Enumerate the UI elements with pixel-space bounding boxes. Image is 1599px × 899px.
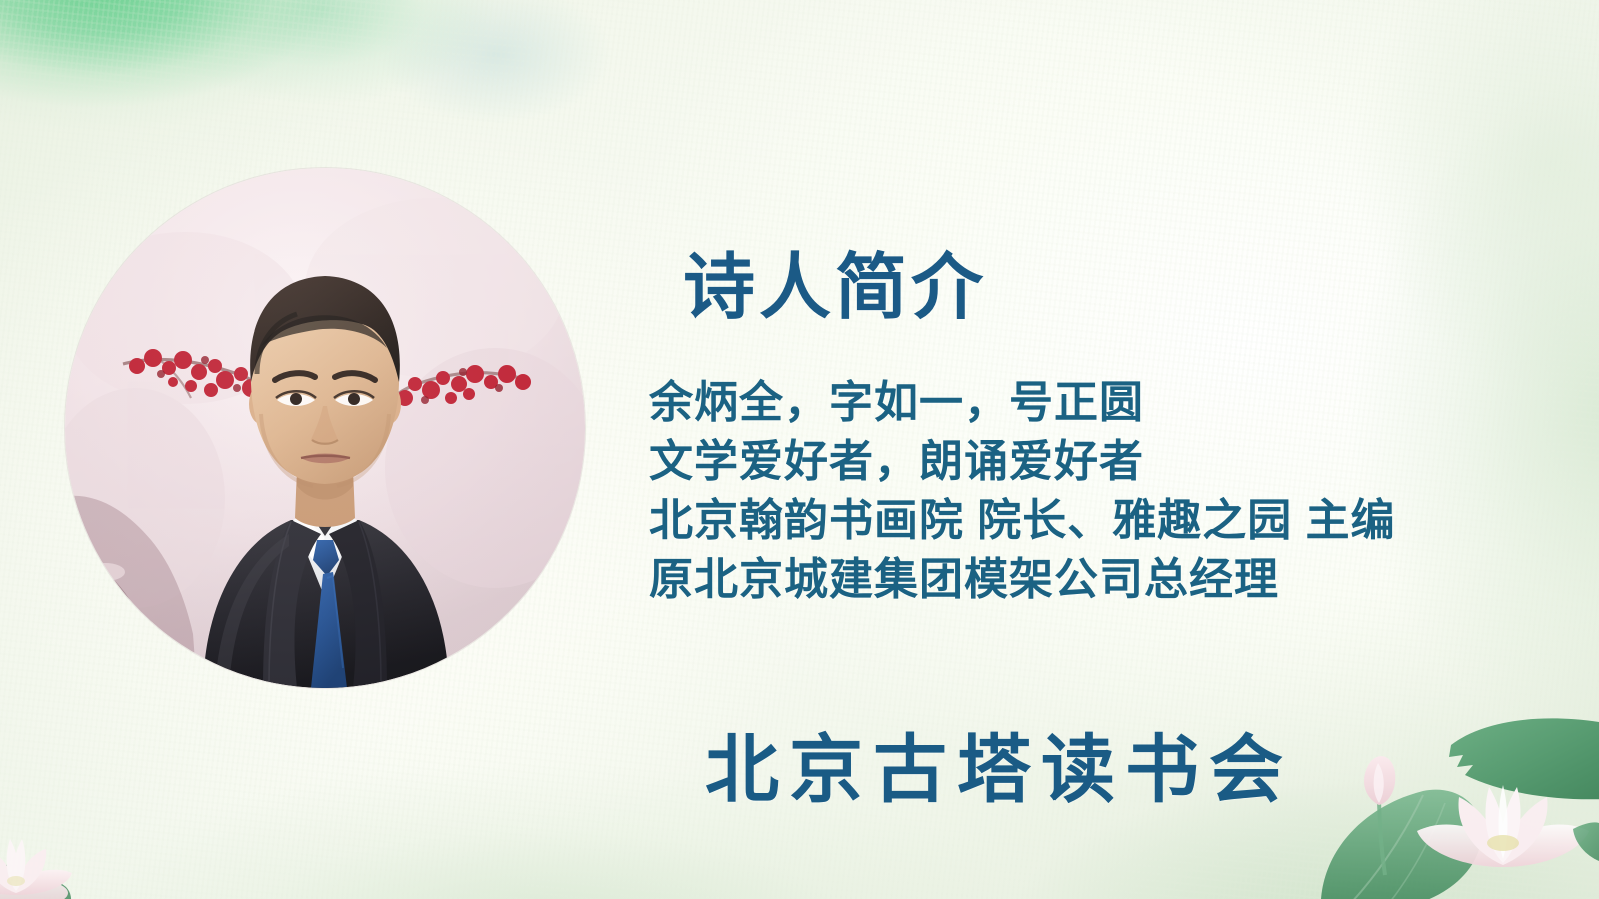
page-title: 诗人简介 <box>683 252 987 324</box>
organization-name: 北京古塔读书会 <box>705 733 1293 807</box>
portrait-avatar <box>65 168 585 688</box>
poet-bio-block: 余炳全，字如一，号正圆 文学爱好者，朗诵爱好者 北京翰韵书画院 院长、雅趣之园 … <box>649 374 1509 610</box>
slide-canvas: 诗人简介 余炳全，字如一，号正圆 文学爱好者，朗诵爱好者 北京翰韵书画院 院长、… <box>0 0 1599 899</box>
bio-line: 余炳全，字如一，号正圆 <box>649 374 1509 433</box>
bio-line: 北京翰韵书画院 院长、雅趣之园 主编 <box>649 492 1509 551</box>
lotus-flower-icon <box>1305 679 1599 899</box>
bio-line: 文学爱好者，朗诵爱好者 <box>649 433 1509 492</box>
bio-line: 原北京城建集团模架公司总经理 <box>649 551 1509 610</box>
lotus-flower-icon <box>0 749 178 899</box>
